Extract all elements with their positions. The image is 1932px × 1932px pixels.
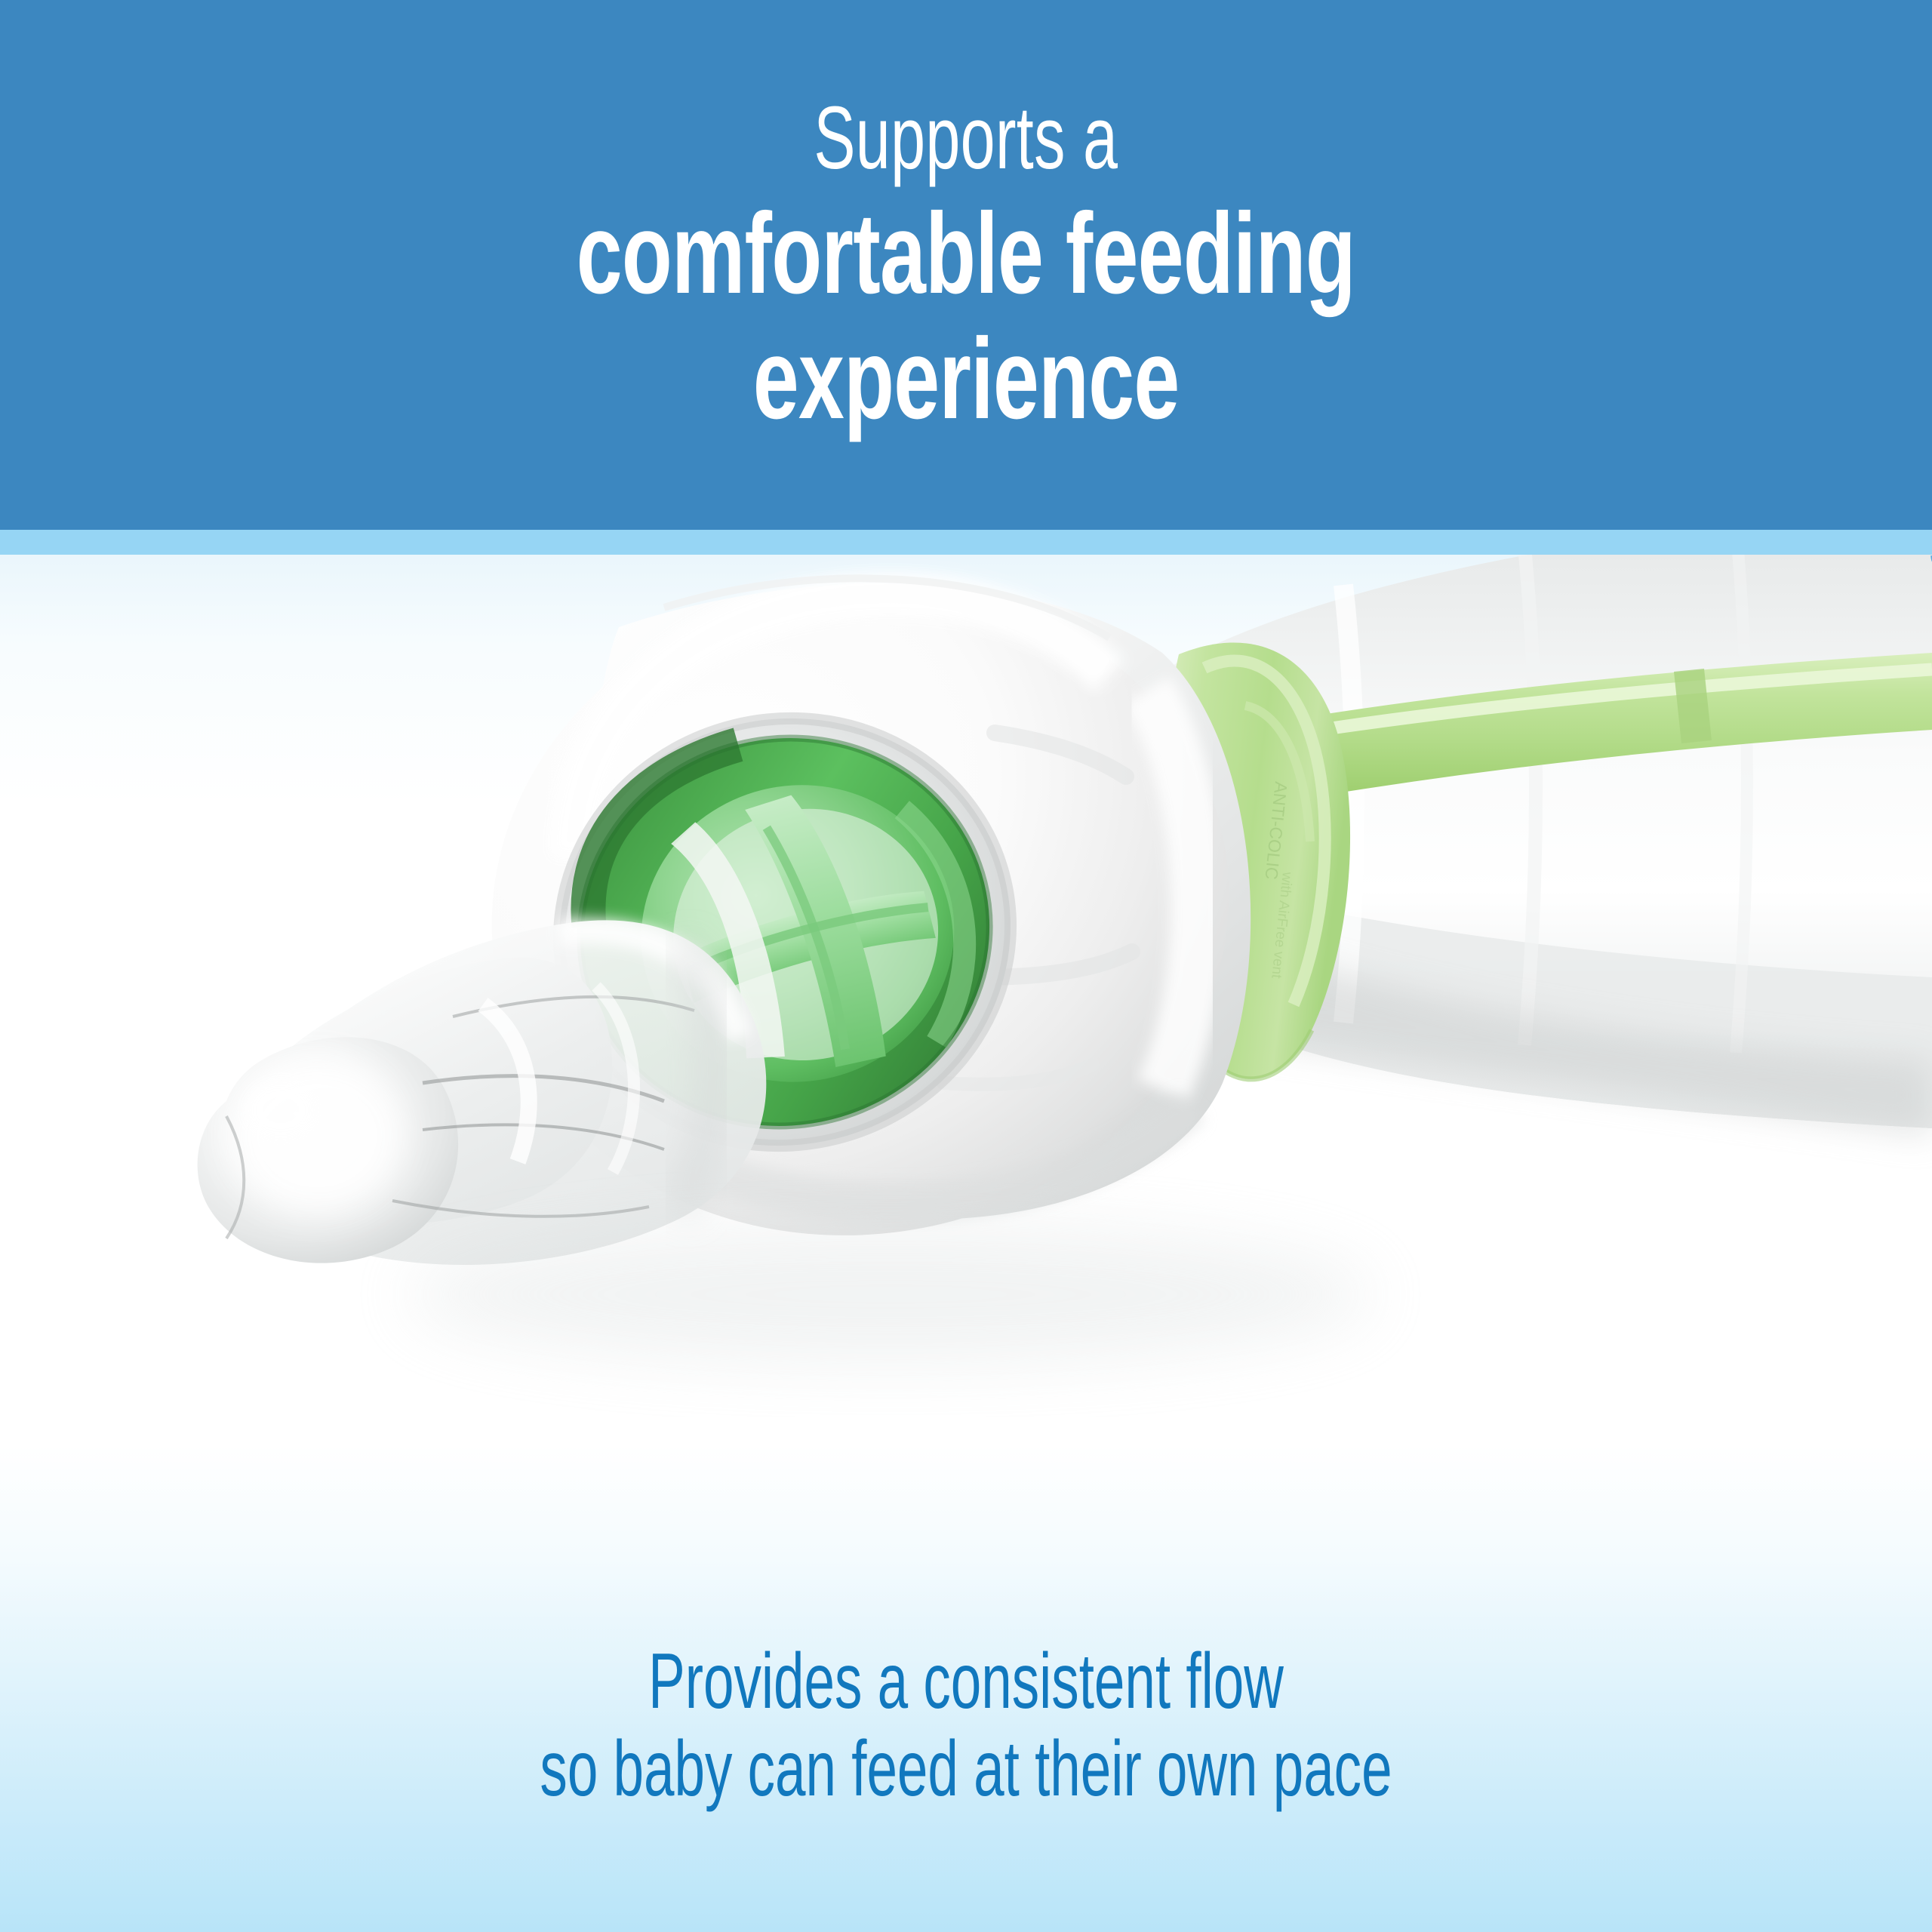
headline-line-2: comfortable feeding (577, 196, 1355, 311)
headline-block: Supports a comfortable feeding experienc… (0, 0, 1932, 530)
headline-line-1: Supports a (814, 94, 1118, 183)
caption-line-2: so baby can feed at their own pace (290, 1725, 1642, 1813)
caption-block: Provides a consistent flow so baby can f… (0, 1638, 1932, 1814)
silicone-nipple (198, 920, 767, 1265)
accent-divider-band (0, 530, 1932, 555)
product-image: ANTI-COLIC with AirFree vent (0, 555, 1932, 1641)
product-feature-card: ANTI-COLIC with AirFree vent (0, 0, 1932, 1932)
headline-line-3: experience (753, 321, 1180, 436)
caption-line-1: Provides a consistent flow (290, 1638, 1642, 1725)
